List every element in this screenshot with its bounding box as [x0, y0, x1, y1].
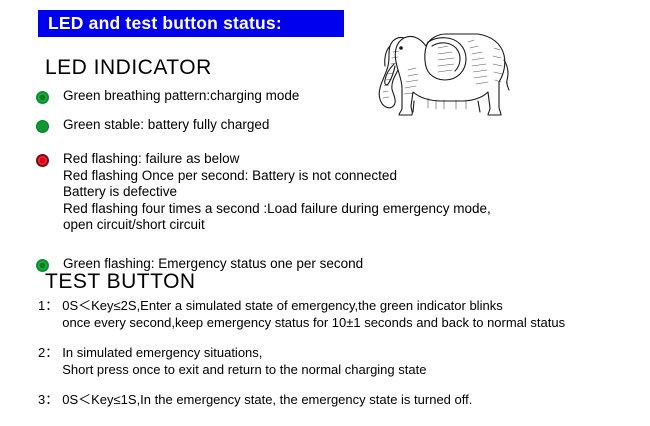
- list-item-label: In simulated emergency situations, Short…: [62, 345, 426, 378]
- list-item-label: 0S＜Key≤1S,In the emergency state, the em…: [62, 392, 472, 409]
- led-indicator-list: Green breathing pattern:charging mode Gr…: [36, 88, 596, 284]
- test-button-heading: TEST BUTTON: [45, 270, 196, 294]
- red-led-icon: [36, 154, 49, 167]
- led-indicator-heading: LED INDICATOR: [45, 56, 212, 80]
- list-item-label: Green stable: battery fully charged: [63, 117, 269, 134]
- list-item-label: Red flashing: failure as below Red flash…: [63, 151, 491, 234]
- green-led-icon: [36, 120, 49, 133]
- test-button-list: 1： 0S＜Key≤2S,Enter a simulated state of …: [38, 298, 628, 423]
- list-item: Green stable: battery fully charged: [36, 117, 596, 134]
- list-item: Green breathing pattern:charging mode: [36, 88, 596, 105]
- list-item: 3： 0S＜Key≤1S,In the emergency state, the…: [38, 392, 628, 409]
- list-item-number: 3：: [38, 392, 58, 408]
- list-item: Red flashing: failure as below Red flash…: [36, 151, 596, 234]
- list-item-number: 1：: [38, 298, 58, 314]
- title-banner: LED and test button status:: [38, 10, 344, 37]
- page-root: LED and test button status:: [0, 0, 650, 426]
- green-led-icon: [36, 91, 49, 104]
- list-item-label: Green breathing pattern:charging mode: [63, 88, 299, 105]
- list-item-label: 0S＜Key≤2S,Enter a simulated state of eme…: [62, 298, 565, 331]
- page-title: LED and test button status:: [48, 13, 282, 34]
- list-item: 1： 0S＜Key≤2S,Enter a simulated state of …: [38, 298, 628, 331]
- list-item: 2： In simulated emergency situations, Sh…: [38, 345, 628, 378]
- list-item-number: 2：: [38, 345, 58, 361]
